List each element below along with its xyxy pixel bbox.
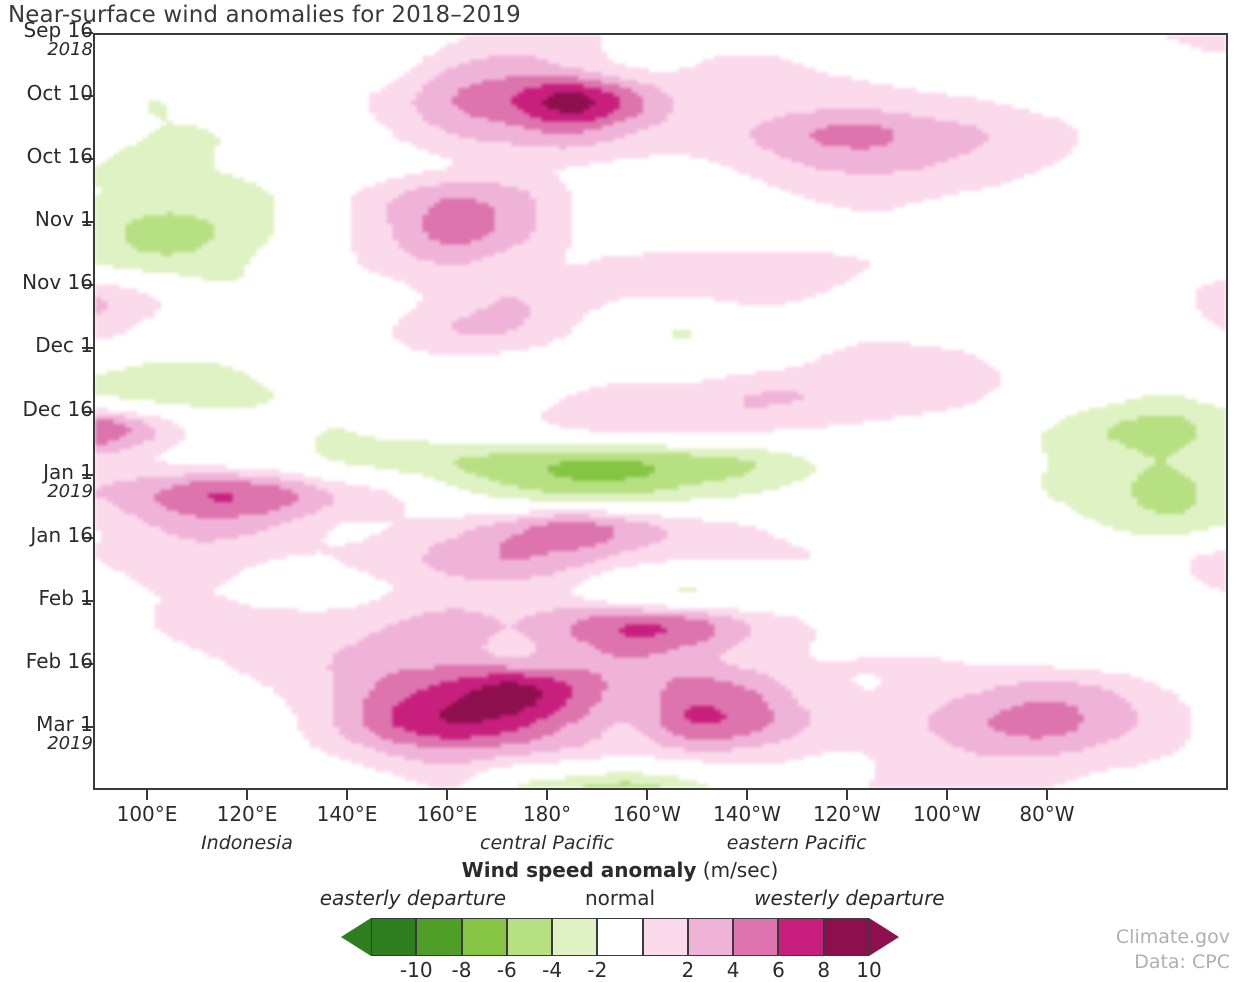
y-tick-label: Feb 16 <box>26 651 93 672</box>
colorbar-swatch <box>824 918 869 956</box>
y-tick-label: Dec 1 <box>35 335 93 356</box>
x-tick-label: 100°E <box>117 802 178 826</box>
colorbar-tick-label: 2 <box>682 958 695 982</box>
colorbar-tick-label: -8 <box>452 958 472 982</box>
legend-title-main: Wind speed anomaly <box>462 858 697 882</box>
legend-caption-westerly: westerly departure <box>754 886 944 910</box>
colorbar-swatch <box>733 918 778 956</box>
x-tick-label: 140°E <box>317 802 378 826</box>
colorbar: -10-8-6-4-2246810 <box>371 918 869 956</box>
x-tick-label: 160°E <box>417 802 478 826</box>
legend-title: Wind speed anomaly (m/sec) <box>0 858 1240 882</box>
y-tick-label: Feb 1 <box>39 588 94 609</box>
colorbar-swatch <box>552 918 597 956</box>
y-tick-label: Mar 12019 <box>36 714 93 754</box>
x-tick-label: 80°W <box>1019 802 1074 826</box>
plot-frame <box>93 33 1228 790</box>
legend-title-unit: (m/sec) <box>703 858 779 882</box>
hovmoller-plot <box>93 33 1228 790</box>
colorbar-swatch <box>507 918 552 956</box>
colorbar-tick-label: 6 <box>772 958 785 982</box>
colorbar-arrow-high <box>869 918 899 956</box>
colorbar-tick-label: -2 <box>587 958 607 982</box>
x-tick-mark <box>746 790 748 800</box>
legend-caption-normal: normal <box>585 886 655 910</box>
x-tick-mark <box>246 790 248 800</box>
colorbar-tick-label: -6 <box>497 958 517 982</box>
y-tick-year: 2019 <box>36 735 93 754</box>
y-tick-label: Oct 16 <box>27 146 93 167</box>
contour-field <box>95 35 1226 788</box>
x-tick-mark <box>946 790 948 800</box>
colorbar-tick-label: 8 <box>817 958 830 982</box>
y-tick-label: Jan 12019 <box>43 462 93 502</box>
credit-source: Climate.gov <box>1116 925 1230 950</box>
credit-data: Data: CPC <box>1116 950 1230 975</box>
x-tick-label: 140°W <box>713 802 781 826</box>
colorbar-swatch <box>371 918 416 956</box>
x-tick-label: 120°E <box>217 802 278 826</box>
colorbar-tick-label: -10 <box>400 958 433 982</box>
y-tick-label: Sep 162018 <box>23 20 93 60</box>
x-tick-mark <box>446 790 448 800</box>
x-tick-label: 100°W <box>913 802 981 826</box>
x-tick-label: 120°W <box>813 802 881 826</box>
x-tick-mark <box>846 790 848 800</box>
x-tick-mark <box>146 790 148 800</box>
region-label: Indonesia <box>201 832 293 854</box>
colorbar-swatch <box>597 918 642 956</box>
x-tick-mark <box>646 790 648 800</box>
colorbar-arrow-low <box>341 918 371 956</box>
legend-caption-easterly: easterly departure <box>320 886 506 910</box>
legend-captions: easterly departurenormalwesterly departu… <box>0 886 1240 912</box>
colorbar-swatch <box>688 918 733 956</box>
colorbar-tick-label: 10 <box>856 958 881 982</box>
colorbar-swatch <box>778 918 823 956</box>
colorbar-tick-label: -4 <box>542 958 562 982</box>
x-tick-mark <box>546 790 548 800</box>
colorbar-swatch <box>462 918 507 956</box>
y-tick-label: Oct 10 <box>27 83 93 104</box>
x-tick-mark <box>346 790 348 800</box>
y-tick-year: 2019 <box>43 483 93 502</box>
y-tick-label: Nov 1 <box>35 209 93 230</box>
colorbar-tick-label: 4 <box>727 958 740 982</box>
x-tick-label: 180° <box>523 802 571 826</box>
region-label: central Pacific <box>480 832 614 854</box>
y-tick-label: Nov 16 <box>22 272 93 293</box>
region-label: eastern Pacific <box>727 832 867 854</box>
y-tick-label: Dec 16 <box>22 399 93 420</box>
colorbar-swatch <box>416 918 461 956</box>
x-tick-mark <box>1046 790 1048 800</box>
x-tick-label: 160°W <box>613 802 681 826</box>
credit: Climate.gov Data: CPC <box>1116 925 1230 975</box>
colorbar-swatch <box>643 918 688 956</box>
y-tick-year: 2018 <box>23 41 93 60</box>
y-tick-label: Jan 16 <box>30 525 93 546</box>
